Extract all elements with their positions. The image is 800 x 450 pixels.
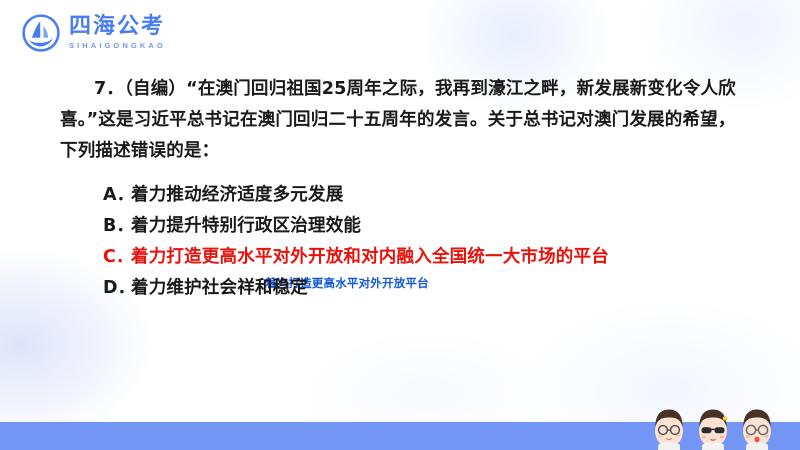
option-d[interactable]: D． 着力维护社会祥和稳定: [60, 273, 750, 304]
option-list: A． 着力推动经济适度多元发展 B． 着力提升特别行政区治理效能 C． 着力打造…: [60, 180, 750, 304]
avatar-person-2: [692, 400, 734, 450]
brand-logo: 四海公考 SIHAIGONGKAO: [22, 14, 166, 52]
option-b[interactable]: B． 着力提升特别行政区治理效能: [60, 211, 750, 242]
option-b-letter: B．: [103, 211, 131, 242]
option-c-letter: C．: [103, 242, 131, 273]
option-a-letter: A．: [103, 180, 131, 211]
brand-name-cn: 四海公考: [69, 16, 166, 38]
brand-name-en: SIHAIGONGKAO: [69, 42, 166, 50]
question-block: 7．（自编）“在澳门回归祖国25周年之际，我再到濠江之畔，新发展新变化令人欣喜。…: [60, 74, 750, 304]
option-a[interactable]: A． 着力推动经济适度多元发展: [60, 180, 750, 211]
option-d-text: 着力维护社会祥和稳定: [131, 273, 308, 304]
avatar-person-1: [648, 400, 690, 450]
option-b-text: 着力提升特别行政区治理效能: [131, 211, 361, 242]
option-d-letter: D．: [103, 273, 131, 304]
option-c[interactable]: C． 着力打造更高水平对外开放和对内融入全国统一大市场的平台 着力打造更高水平对…: [60, 242, 750, 273]
brand-wordmark: 四海公考 SIHAIGONGKAO: [69, 16, 166, 50]
slide-canvas: 四海公考 SIHAIGONGKAO 7．（自编）“在澳门回归祖国25周年之际，我…: [0, 0, 800, 450]
question-stem: 7．（自编）“在澳门回归祖国25周年之际，我再到濠江之畔，新发展新变化令人欣喜。…: [60, 74, 750, 167]
avatar-person-3: [736, 400, 778, 450]
option-a-text: 着力推动经济适度多元发展: [131, 180, 343, 211]
sailboat-circle-logo-icon: [22, 14, 60, 52]
presenter-avatars: [648, 398, 778, 450]
